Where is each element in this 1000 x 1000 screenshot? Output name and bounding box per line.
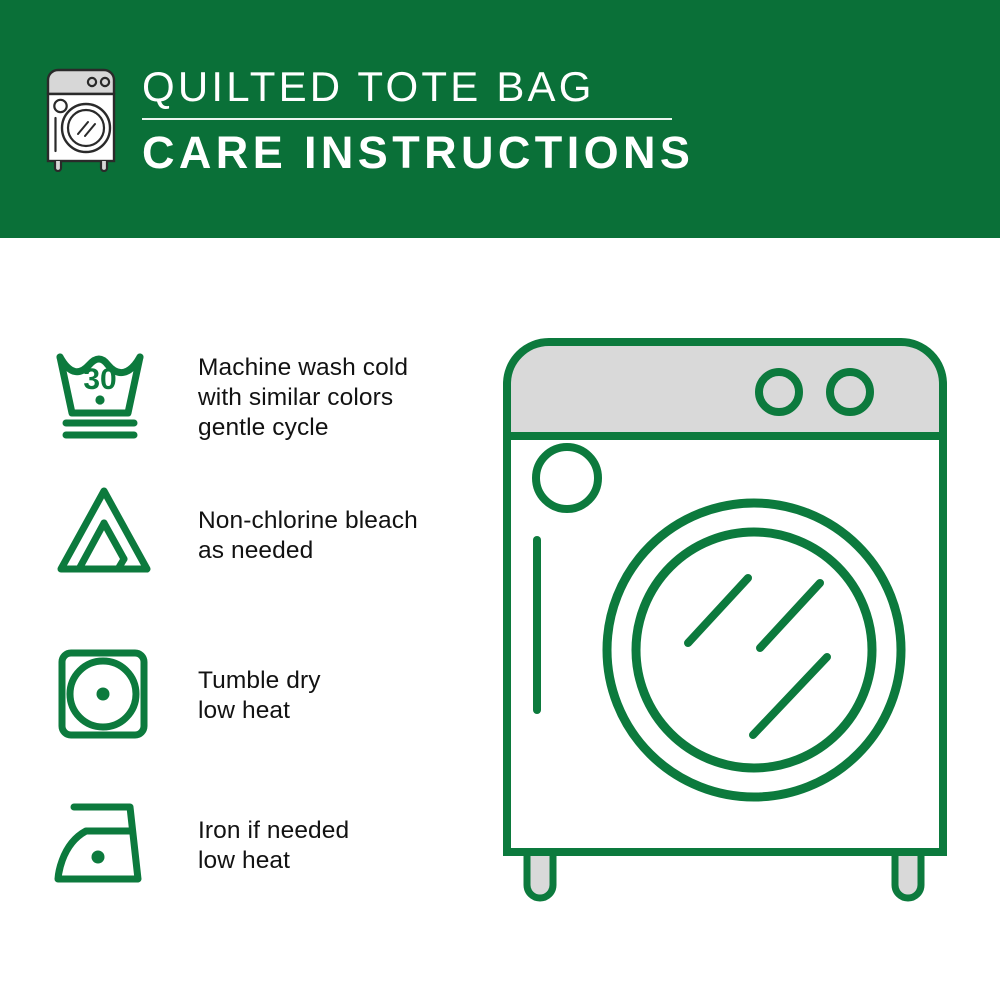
- care-line: low heat: [198, 696, 321, 726]
- care-line: Iron if needed: [198, 816, 349, 846]
- care-line: with similar colors: [198, 383, 408, 413]
- care-item-iron: Iron if needed low heat: [52, 791, 492, 901]
- header-banner: QUILTED TOTE BAG CARE INSTRUCTIONS: [0, 0, 1000, 238]
- care-instructions-infographic: QUILTED TOTE BAG CARE INSTRUCTIONS 30: [0, 0, 1000, 1000]
- control-panel: [507, 342, 943, 436]
- care-item-text-bleach: Non-chlorine bleach as needed: [198, 481, 418, 566]
- leg-right: [895, 850, 921, 898]
- care-item-text-tumble-dry: Tumble dry low heat: [198, 641, 321, 726]
- care-line: gentle cycle: [198, 413, 408, 443]
- care-line: as needed: [198, 536, 418, 566]
- care-line: Machine wash cold: [198, 353, 408, 383]
- washing-machine-illustration: [495, 330, 975, 930]
- page-title: CARE INSTRUCTIONS: [142, 127, 694, 179]
- care-line: low heat: [198, 846, 349, 876]
- title-divider: [142, 118, 672, 120]
- care-line: Tumble dry: [198, 666, 321, 696]
- header-content: QUILTED TOTE BAG CARE INSTRUCTIONS: [42, 62, 694, 179]
- care-item-bleach: Non-chlorine bleach as needed: [52, 481, 492, 585]
- care-item-machine-wash: 30 Machine wash cold with similar colors…: [52, 341, 492, 445]
- washing-machine-icon: [42, 66, 120, 172]
- care-item-text-machine-wash: Machine wash cold with similar colors ge…: [198, 341, 408, 443]
- care-line: Non-chlorine bleach: [198, 506, 418, 536]
- care-instruction-list: 30 Machine wash cold with similar colors…: [0, 238, 500, 1000]
- iron-low-heat-icon: [52, 797, 156, 901]
- care-item-tumble-dry: Tumble dry low heat: [52, 641, 492, 745]
- leg-left: [527, 850, 553, 898]
- header-title-block: QUILTED TOTE BAG CARE INSTRUCTIONS: [142, 62, 694, 179]
- care-item-text-iron: Iron if needed low heat: [198, 791, 349, 876]
- non-chlorine-bleach-triangle-icon: [52, 481, 156, 585]
- tumble-dry-low-heat-icon: [52, 641, 156, 745]
- machine-wash-30-gentle-icon: 30: [52, 341, 156, 445]
- product-title: QUILTED TOTE BAG: [142, 62, 694, 112]
- wash-temperature-label: 30: [83, 363, 116, 396]
